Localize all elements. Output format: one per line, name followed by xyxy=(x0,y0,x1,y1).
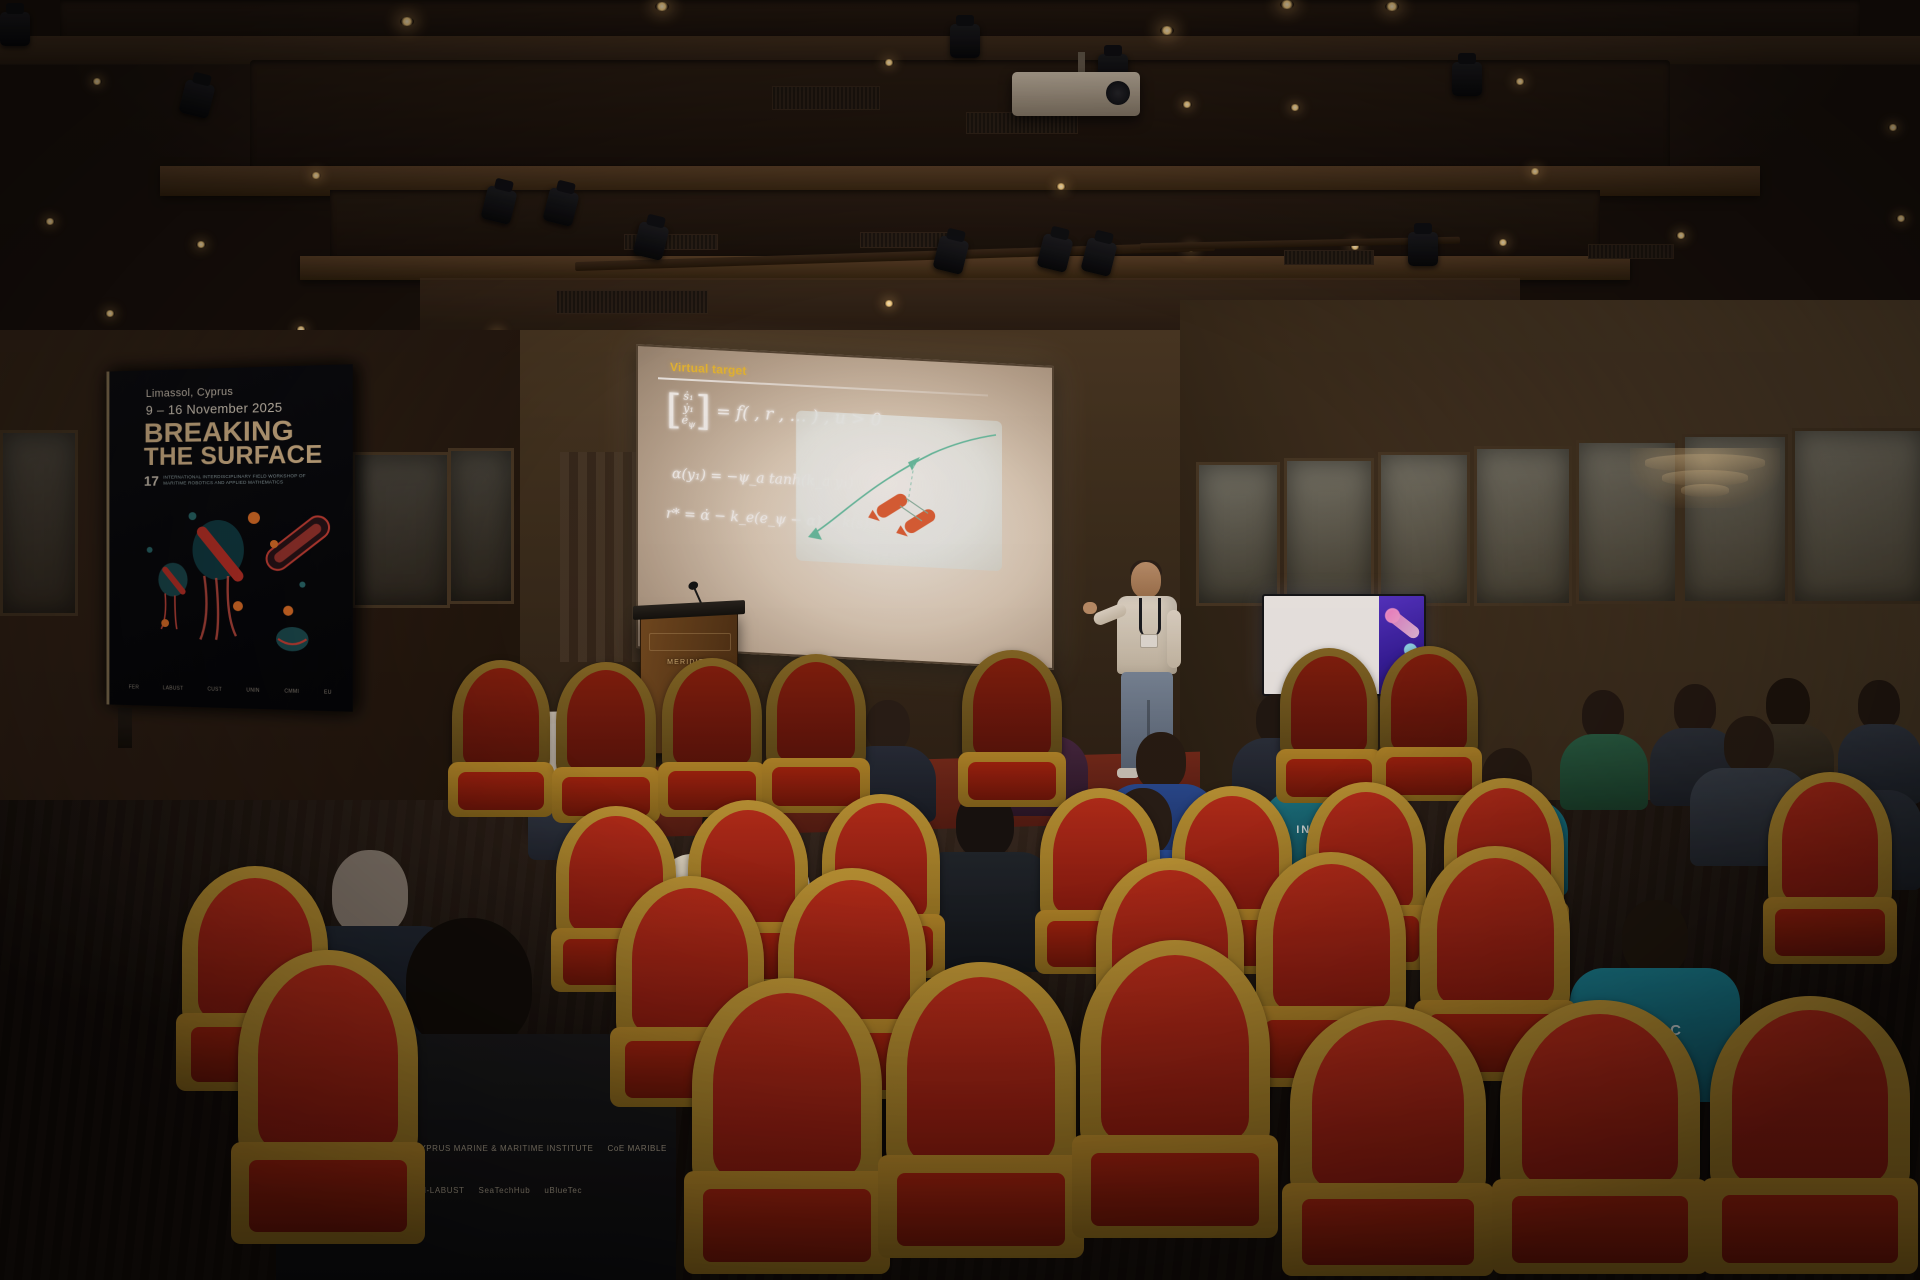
chair-back xyxy=(238,950,418,1166)
chair[interactable] xyxy=(1768,772,1892,968)
ceiling-air-vent xyxy=(1588,244,1674,259)
chair-back xyxy=(692,978,882,1195)
window xyxy=(448,448,514,604)
ceiling-downlight xyxy=(311,172,321,179)
track-spotlight xyxy=(950,24,980,58)
ceiling-downlight xyxy=(1888,124,1898,131)
chair-back-cushion xyxy=(973,658,1051,755)
person-head xyxy=(1622,900,1688,976)
presenter-arm-down xyxy=(1167,610,1181,668)
chair-seat-cushion xyxy=(458,772,544,810)
shirt-logo: SeaTechHub xyxy=(479,1186,531,1195)
equation-1-lhs-vector: ṡ₁ẏ₁ėψ xyxy=(682,390,696,431)
person-head xyxy=(1136,732,1186,790)
ceiling-downlight xyxy=(1290,104,1300,111)
track-spotlight xyxy=(1452,62,1482,96)
ceiling-downlight xyxy=(1280,0,1294,9)
chair-back-cushion xyxy=(1391,654,1467,750)
presenter-name-badge xyxy=(1140,634,1158,648)
ceiling-air-vent xyxy=(556,290,708,314)
person-head xyxy=(406,918,532,1050)
chair[interactable] xyxy=(1080,940,1270,1244)
chair[interactable] xyxy=(886,962,1076,1264)
window xyxy=(1378,452,1470,606)
chair[interactable] xyxy=(556,662,656,826)
chair-back-cushion xyxy=(713,993,861,1176)
ceiling-downlight xyxy=(1385,2,1399,11)
chair-back-cushion xyxy=(907,977,1055,1160)
chair-back xyxy=(1256,852,1406,1025)
chair-back xyxy=(1290,1006,1486,1205)
chair-back-cushion xyxy=(1522,1014,1678,1183)
chair-back xyxy=(1500,1000,1700,1202)
ceiling-downlight xyxy=(1896,215,1906,222)
ceiling-downlight xyxy=(884,59,894,66)
ceiling-downlight xyxy=(1676,232,1686,239)
ceiling-air-vent xyxy=(772,86,880,110)
chair[interactable] xyxy=(1290,1006,1486,1280)
ceiling-downlight xyxy=(1515,78,1525,85)
window xyxy=(352,452,450,608)
virtual-target-diagram xyxy=(796,410,1002,571)
poster-logo: FER xyxy=(129,684,139,690)
shirt-logo: CoE MARIBLE xyxy=(607,1144,667,1153)
chair-back xyxy=(662,658,762,775)
chair-back xyxy=(962,650,1062,765)
chair-seat-cushion xyxy=(1722,1195,1898,1263)
ceiling-projector xyxy=(1012,72,1140,116)
presenter-lanyard xyxy=(1139,598,1161,636)
poster-stand xyxy=(118,708,132,748)
chair-seat-cushion xyxy=(703,1189,870,1261)
ceiling-downlight xyxy=(1182,101,1192,108)
auv-vehicle-2 xyxy=(894,507,938,541)
conference-hall-photo: Limassol, Cyprus 9 – 16 November 2025 BR… xyxy=(0,0,1920,1280)
poster-title-line2: THE SURFACE xyxy=(144,442,323,470)
slide-title: Virtual target xyxy=(670,360,747,378)
lectern-panel xyxy=(649,633,731,651)
window xyxy=(1792,428,1920,604)
chair-back xyxy=(886,962,1076,1179)
chandelier xyxy=(1630,448,1780,508)
chair[interactable] xyxy=(452,660,550,820)
person-head xyxy=(1724,716,1774,774)
chair[interactable] xyxy=(238,950,418,1250)
audience-person xyxy=(1560,690,1646,808)
chair-back xyxy=(556,662,656,780)
chair-back xyxy=(1420,846,1570,1019)
chair-back-cushion xyxy=(1291,656,1367,752)
projector-lens xyxy=(1106,81,1130,105)
chair-back-cushion xyxy=(1732,1010,1888,1182)
conference-poster: Limassol, Cyprus 9 – 16 November 2025 BR… xyxy=(107,364,353,712)
window xyxy=(0,430,78,616)
chair[interactable] xyxy=(1710,996,1910,1280)
presenter-hand xyxy=(1083,602,1097,614)
chair-back xyxy=(452,660,550,775)
chair-back xyxy=(1280,648,1378,762)
poster-sponsor-logos: FER LABUST CUST UNIN CMMI EU xyxy=(117,675,345,705)
ceiling-downlight xyxy=(45,218,55,225)
chair-back-cushion xyxy=(1312,1020,1465,1187)
poster-logo: UNIN xyxy=(246,688,259,694)
window xyxy=(1196,462,1280,606)
poster-logo: CUST xyxy=(207,686,222,692)
vehicle-link xyxy=(900,506,922,521)
cross-track-error-line xyxy=(908,464,914,502)
chair-seat-cushion xyxy=(1091,1153,1258,1226)
chair[interactable] xyxy=(1500,1000,1700,1280)
poster-artwork xyxy=(109,487,352,671)
ceiling-downlight xyxy=(1530,168,1540,175)
poster-edition: 17 xyxy=(144,473,159,489)
ceiling-downlight xyxy=(1498,239,1508,246)
chair-back xyxy=(1380,646,1478,760)
window xyxy=(1284,458,1374,606)
poster-logo: CMMI xyxy=(284,688,299,694)
chair-seat-cushion xyxy=(897,1173,1064,1245)
poster-subtitle: INTERNATIONAL INTERDISCIPLINARY FIELD WO… xyxy=(163,473,323,487)
chair-seat-cushion xyxy=(1512,1196,1688,1263)
bracket-close-icon: ] xyxy=(695,394,711,429)
poster-logo: EU xyxy=(324,690,332,696)
ceiling-downlight xyxy=(1056,183,1066,190)
presenter-head xyxy=(1131,562,1161,598)
bracket-open-icon: [ xyxy=(666,393,682,428)
person-head xyxy=(866,700,910,752)
person-torso xyxy=(1560,734,1648,810)
chair-back-cushion xyxy=(777,662,855,760)
chair-seat-cushion xyxy=(249,1160,407,1232)
chair-back xyxy=(1080,940,1270,1159)
ceiling-downlight xyxy=(105,310,115,317)
poster-logo: LABUST xyxy=(163,685,184,691)
chair[interactable] xyxy=(962,650,1062,810)
chair-seat-cushion xyxy=(1302,1199,1474,1265)
shirt-logo: CYPRUS MARINE & MARITIME INSTITUTE xyxy=(414,1144,594,1153)
vehicle-link xyxy=(906,498,928,513)
chair-back-cushion xyxy=(258,965,398,1146)
ceiling-downlight xyxy=(1160,26,1174,35)
chair-back-cushion xyxy=(1437,858,1554,1003)
chair-back xyxy=(766,654,866,771)
chair[interactable] xyxy=(662,658,762,820)
shirt-logo: uBlueTec xyxy=(544,1186,582,1195)
ceiling-air-vent xyxy=(1284,250,1374,265)
ceiling-downlight xyxy=(92,78,102,85)
chair-back-cushion xyxy=(463,668,539,765)
chandelier-ring xyxy=(1681,484,1729,497)
ceiling-downlight xyxy=(655,2,669,11)
poster-location: Limassol, Cyprus xyxy=(146,386,233,400)
track-spotlight xyxy=(1408,232,1438,266)
chair[interactable] xyxy=(766,654,866,816)
chair[interactable] xyxy=(692,978,882,1280)
chair-back xyxy=(1710,996,1910,1200)
ceiling-downlight xyxy=(884,300,894,307)
window xyxy=(1474,446,1572,606)
chair-back-cushion xyxy=(1273,864,1390,1009)
track-spotlight xyxy=(0,12,30,46)
chair-back-cushion xyxy=(567,670,645,769)
ceiling-downlight xyxy=(400,17,414,26)
slide-illustration xyxy=(796,410,1002,571)
ceiling-downlight xyxy=(196,241,206,248)
chair-back-cushion xyxy=(1782,782,1879,901)
chair-seat-cushion xyxy=(1775,909,1884,956)
chair-back xyxy=(1768,772,1892,913)
person-head xyxy=(1582,690,1624,740)
chair-back-cushion xyxy=(673,666,751,764)
chair-back-cushion xyxy=(1101,955,1249,1139)
person-head xyxy=(1858,680,1900,730)
path-arrow-icon xyxy=(908,456,920,471)
